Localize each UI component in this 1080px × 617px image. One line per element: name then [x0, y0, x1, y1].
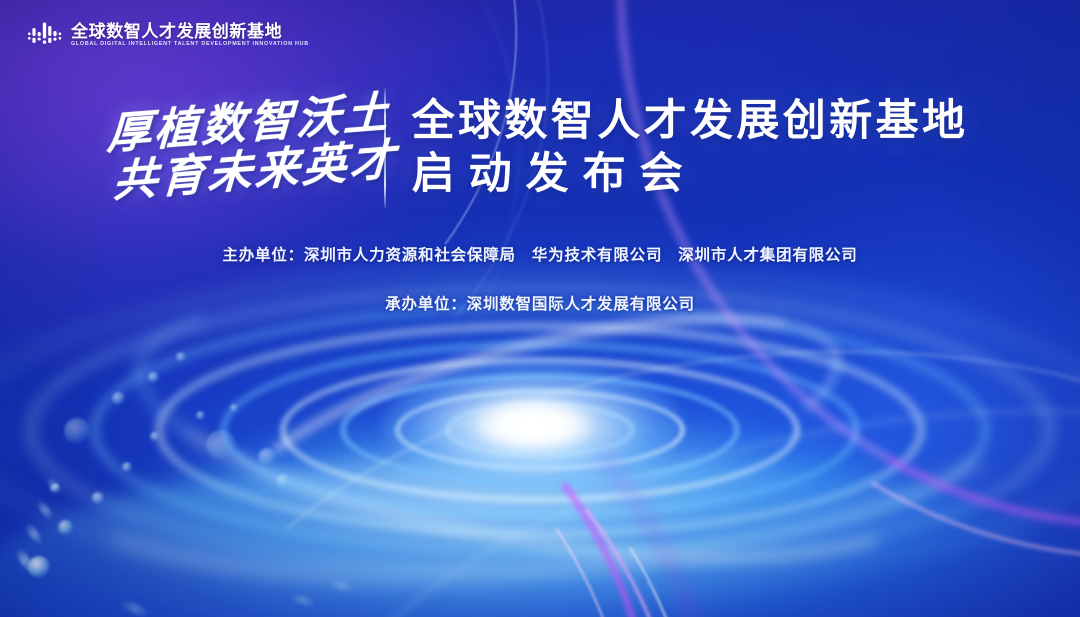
host-label: 主办单位：: [222, 247, 304, 264]
event-title: 全球数智人才发展创新基地: [412, 97, 969, 145]
host-name-2: 华为技术有限公司: [532, 247, 662, 264]
host-name-3: 深圳市人才集团有限公司: [678, 247, 857, 264]
logo-name-en: GLOBAL DIGITAL INTELLIGENT TALENT DEVELO…: [71, 42, 309, 48]
brand-logo[interactable]: 全球数智人才发展创新基地 GLOBAL DIGITAL INTELLIGENT …: [28, 22, 309, 48]
event-subtitle: 启动发布会: [412, 149, 969, 200]
organizer-line: 承办单位：深圳数智国际人才发展有限公司: [0, 297, 1080, 313]
equalizer-bars-icon: [28, 22, 62, 48]
host-name-1: 深圳市人力资源和社会保障局: [304, 247, 516, 264]
logo-text: 全球数智人才发展创新基地 GLOBAL DIGITAL INTELLIGENT …: [71, 23, 309, 47]
headline-block: 厚植数智沃土 共育未来英才 全球数智人才发展创新基地 启动发布会: [0, 86, 1080, 210]
calligraphy-slogan: 厚植数智沃土 共育未来英才: [108, 86, 366, 210]
organizer-name-1: 深圳数智国际人才发展有限公司: [467, 296, 695, 313]
title-block: 全球数智人才发展创新基地 启动发布会: [412, 97, 969, 200]
organizer-info: 主办单位：深圳市人力资源和社会保障局华为技术有限公司深圳市人才集团有限公司 承办…: [0, 248, 1080, 312]
logo-name-cn: 全球数智人才发展创新基地: [71, 23, 309, 40]
organizer-label: 承办单位：: [385, 296, 467, 313]
event-banner: 全球数智人才发展创新基地 GLOBAL DIGITAL INTELLIGENT …: [0, 0, 1080, 617]
host-line: 主办单位：深圳市人力资源和社会保障局华为技术有限公司深圳市人才集团有限公司: [0, 248, 1080, 264]
